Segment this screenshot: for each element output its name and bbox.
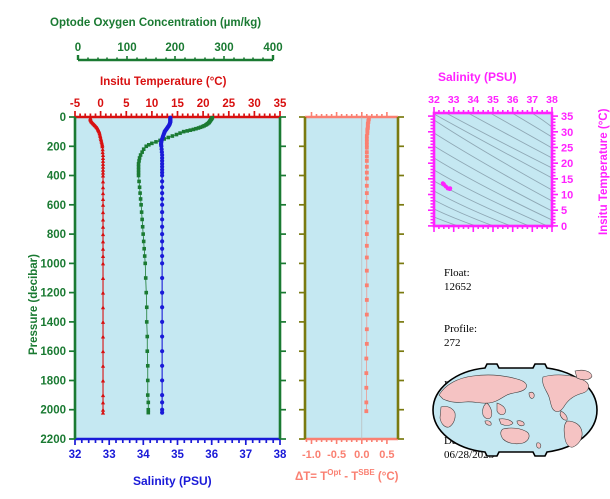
temperature-ticks (75, 111, 280, 117)
delta-t-title-end: (°C) (375, 471, 399, 483)
svg-text:1200: 1200 (40, 288, 66, 300)
delta-t-svg: -1.0-0.5 0.00.5 (295, 0, 420, 499)
svg-text:-5: -5 (70, 98, 81, 110)
svg-text:15: 15 (561, 174, 573, 186)
oxygen-tick-labels: 0100 200300 400 (75, 42, 283, 54)
svg-text:30: 30 (561, 127, 573, 139)
svg-text:35: 35 (561, 111, 573, 123)
svg-text:0: 0 (60, 112, 66, 124)
svg-text:5: 5 (561, 205, 567, 217)
svg-text:33: 33 (103, 449, 116, 461)
svg-text:2200: 2200 (40, 434, 66, 446)
metadata-profile-label: Profile: (444, 323, 477, 335)
svg-text:35: 35 (171, 449, 184, 461)
delta-t-axis-title: ΔT= TOpt - TSBE (°C) (295, 468, 398, 483)
ts-temperature-title: Insitu Temperature (°C) (598, 109, 610, 235)
svg-text:0: 0 (561, 221, 567, 233)
svg-text:0.5: 0.5 (379, 449, 394, 461)
ts-salinity-tick-labels: 3233 3435 3637 38 (428, 94, 558, 106)
world-map (425, 355, 605, 465)
main-profile-svg: 0100 200300 400 (0, 0, 300, 499)
metadata-float-row: Float: 12652 (433, 252, 608, 308)
ts-salinity-title: Salinity (PSU) (438, 70, 517, 84)
svg-text:35: 35 (487, 94, 499, 106)
svg-text:1400: 1400 (40, 317, 66, 329)
svg-text:400: 400 (263, 42, 282, 54)
svg-text:38: 38 (274, 449, 287, 461)
ts-diagram-panel: Salinity (PSU) Insitu Temperature (°C) (420, 0, 610, 250)
svg-text:2000: 2000 (40, 405, 66, 417)
svg-text:0: 0 (97, 98, 103, 110)
salinity-tick-labels: 3233 3435 3637 38 (69, 449, 287, 461)
svg-text:25: 25 (561, 143, 573, 155)
svg-text:36: 36 (507, 94, 519, 106)
svg-text:0.0: 0.0 (354, 449, 369, 461)
delta-t-sup-sbe: SBE (358, 468, 374, 477)
svg-text:200: 200 (47, 141, 66, 153)
svg-text:37: 37 (239, 449, 252, 461)
svg-text:1600: 1600 (40, 346, 66, 358)
salinity-axis-title: Salinity (PSU) (133, 474, 212, 488)
svg-text:25: 25 (222, 98, 235, 110)
svg-text:20: 20 (197, 98, 210, 110)
svg-text:600: 600 (47, 200, 66, 212)
svg-text:32: 32 (69, 449, 82, 461)
svg-text:-0.5: -0.5 (327, 449, 346, 461)
delta-t-title-part1: ΔT= T (295, 471, 327, 483)
svg-text:35: 35 (274, 98, 287, 110)
temperature-axis-title: Insitu Temperature (°C) (100, 76, 226, 88)
svg-text:34: 34 (137, 449, 150, 461)
pressure-tick-labels: 0200 400600 8001000 12001400 16001800 20… (40, 112, 66, 446)
svg-text:36: 36 (205, 449, 218, 461)
svg-text:-1.0: -1.0 (302, 449, 321, 461)
ts-diagram-svg: 3233 3435 3637 38 (420, 0, 610, 250)
svg-text:34: 34 (467, 94, 479, 106)
svg-text:100: 100 (117, 42, 136, 54)
svg-text:10: 10 (146, 98, 159, 110)
svg-text:300: 300 (214, 42, 233, 54)
metadata-float-label: Float: (444, 267, 470, 279)
delta-t-panel: -1.0-0.5 0.00.5 ΔT= TOpt - TSBE (°C) (295, 0, 420, 499)
oxygen-axis-title: Optode Oxygen Concentration (µm/kg) (50, 17, 261, 29)
metadata-float-value: 12652 (444, 281, 472, 293)
svg-text:800: 800 (47, 229, 66, 241)
svg-text:20: 20 (561, 158, 573, 170)
svg-text:0: 0 (75, 42, 81, 54)
svg-text:400: 400 (47, 171, 66, 183)
svg-text:200: 200 (165, 42, 184, 54)
svg-text:10: 10 (561, 190, 573, 202)
svg-text:5: 5 (123, 98, 130, 110)
svg-text:38: 38 (546, 94, 558, 106)
pressure-axis-title: Pressure (decibar) (28, 254, 40, 355)
temperature-tick-labels: -50 510 1520 2530 35 (70, 98, 287, 110)
delta-t-title-mid: - T (341, 471, 358, 483)
svg-text:30: 30 (248, 98, 261, 110)
svg-text:32: 32 (428, 94, 440, 106)
svg-text:1800: 1800 (40, 376, 66, 388)
delta-t-sup-opt: Opt (327, 468, 341, 477)
svg-text:33: 33 (448, 94, 460, 106)
world-map-svg (425, 355, 605, 465)
svg-text:37: 37 (526, 94, 538, 106)
ts-temperature-tick-labels: 3530 2520 1510 50 (561, 111, 573, 233)
svg-text:15: 15 (171, 98, 184, 110)
metadata-profile-value: 272 (444, 337, 461, 349)
delta-t-tick-labels: -1.0-0.5 0.00.5 (302, 449, 395, 461)
main-profile-panel: Optode Oxygen Concentration (µm/kg) Insi… (0, 0, 300, 499)
svg-text:1000: 1000 (40, 258, 66, 270)
